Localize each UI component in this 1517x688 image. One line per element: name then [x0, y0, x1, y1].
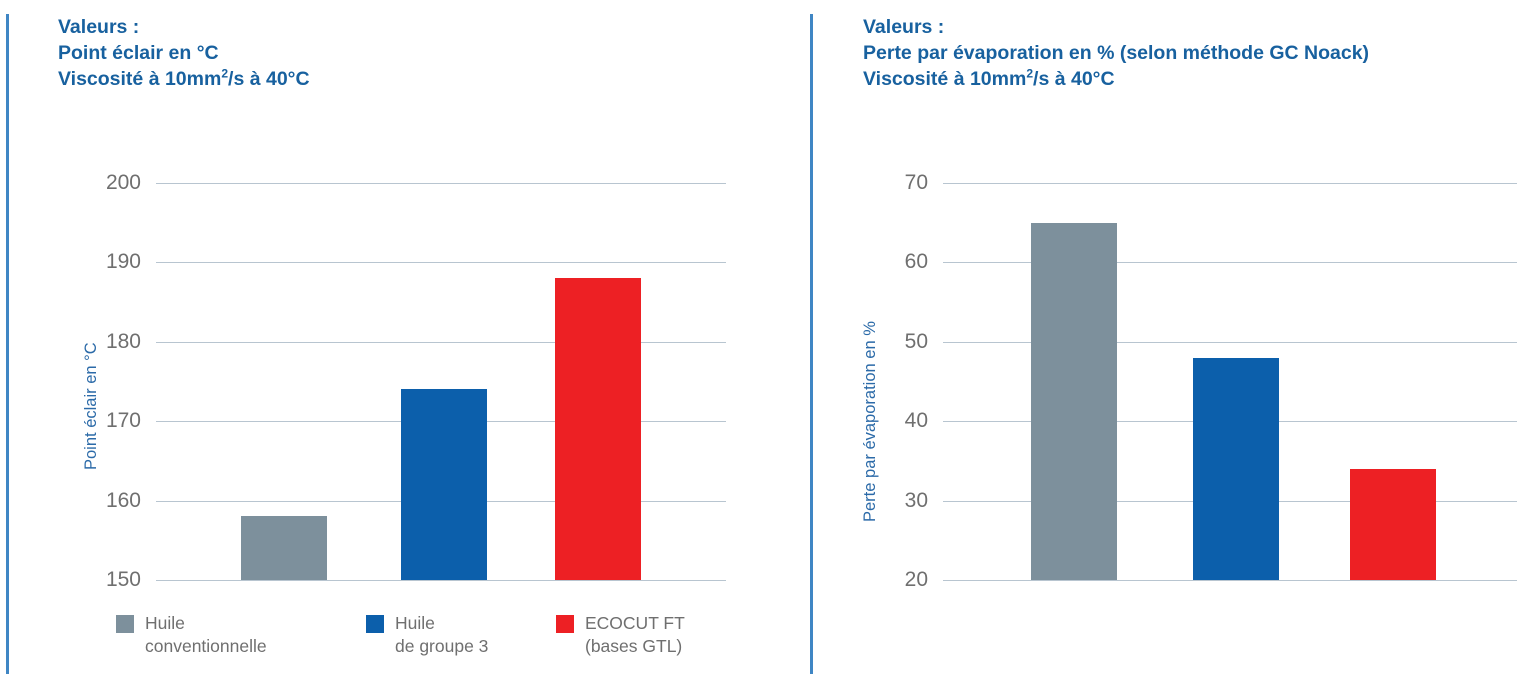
legend-label: ECOCUT FT (bases GTL) [585, 612, 685, 658]
heading-line-1: Valeurs : [58, 14, 310, 40]
y-axis-title: Point éclair en °C [82, 342, 101, 470]
heading-line-3: Viscosité à 10mm2/s à 40°C [58, 66, 310, 92]
y-axis-tick-label: 70 [905, 171, 928, 195]
heading-line-3: Viscosité à 10mm2/s à 40°C [863, 66, 1369, 92]
heading-line-2: Perte par évaporation en % (selon méthod… [863, 40, 1369, 66]
heading-line-3-prefix: Viscosité à 10mm [863, 68, 1026, 90]
heading-line-3-prefix: Viscosité à 10mm [58, 68, 221, 90]
legend-label: Huile de groupe 3 [395, 612, 488, 658]
legend-label: Huile conventionnelle [145, 612, 267, 658]
y-axis-tick-label: 200 [106, 171, 141, 195]
y-axis-gridline: 150 [156, 580, 726, 581]
gridlines-and-bars: 706050403020 [943, 183, 1517, 580]
y-axis-tick-label: 60 [905, 250, 928, 274]
heading-line-3-suffix: /s à 40°C [228, 68, 310, 90]
y-axis-tick-label: 20 [905, 568, 928, 592]
center-divider-rule [810, 14, 813, 674]
heading-line-2: Point éclair en °C [58, 40, 310, 66]
legend-item[interactable]: Huile conventionnelle [116, 612, 267, 658]
y-axis-gridline: 50 [943, 342, 1517, 343]
bar-0 [1031, 223, 1117, 580]
legend-swatch-icon [366, 615, 384, 633]
panel-heading-flash-point: Valeurs : Point éclair en °C Viscosité à… [58, 14, 310, 92]
bar-1 [1193, 358, 1279, 580]
y-axis-gridline: 190 [156, 262, 726, 263]
y-axis-gridline: 70 [943, 183, 1517, 184]
panel-heading-evaporation-loss: Valeurs : Perte par évaporation en % (se… [863, 14, 1369, 92]
y-axis-tick-label: 50 [905, 330, 928, 354]
bar-1 [401, 389, 487, 580]
heading-line-1: Valeurs : [863, 14, 1369, 40]
legend-swatch-icon [116, 615, 134, 633]
left-divider-rule [6, 14, 9, 674]
chart-legend: Huile conventionnelleHuile de groupe 3EC… [116, 612, 736, 672]
y-axis-tick-label: 160 [106, 489, 141, 513]
plot-area-flash-point: Point éclair en °C 200190180170160150 [58, 170, 758, 590]
figure-root: Valeurs : Point éclair en °C Viscosité à… [0, 0, 1517, 688]
legend-swatch-icon [556, 615, 574, 633]
legend-item[interactable]: Huile de groupe 3 [366, 612, 488, 658]
y-axis-tick-label: 180 [106, 330, 141, 354]
bar-2 [555, 278, 641, 580]
heading-line-3-suffix: /s à 40°C [1033, 68, 1115, 90]
y-axis-tick-label: 190 [106, 250, 141, 274]
y-axis-gridline: 60 [943, 262, 1517, 263]
legend-item[interactable]: ECOCUT FT (bases GTL) [556, 612, 685, 658]
chart-panel-flash-point: Valeurs : Point éclair en °C Viscosité à… [10, 0, 800, 688]
y-axis-gridline: 200 [156, 183, 726, 184]
y-axis-tick-label: 150 [106, 568, 141, 592]
y-axis-tick-label: 170 [106, 409, 141, 433]
y-axis-tick-label: 30 [905, 489, 928, 513]
chart-panel-evaporation-loss: Valeurs : Perte par évaporation en % (se… [815, 0, 1515, 688]
y-axis-title: Perte par évaporation en % [861, 321, 880, 522]
bar-2 [1350, 469, 1436, 580]
gridlines-and-bars: 200190180170160150 [156, 183, 726, 580]
y-axis-tick-label: 40 [905, 409, 928, 433]
y-axis-gridline: 20 [943, 580, 1517, 581]
bar-0 [241, 516, 327, 580]
plot-area-evaporation-loss: Perte par évaporation en % 706050403020 [845, 170, 1505, 590]
